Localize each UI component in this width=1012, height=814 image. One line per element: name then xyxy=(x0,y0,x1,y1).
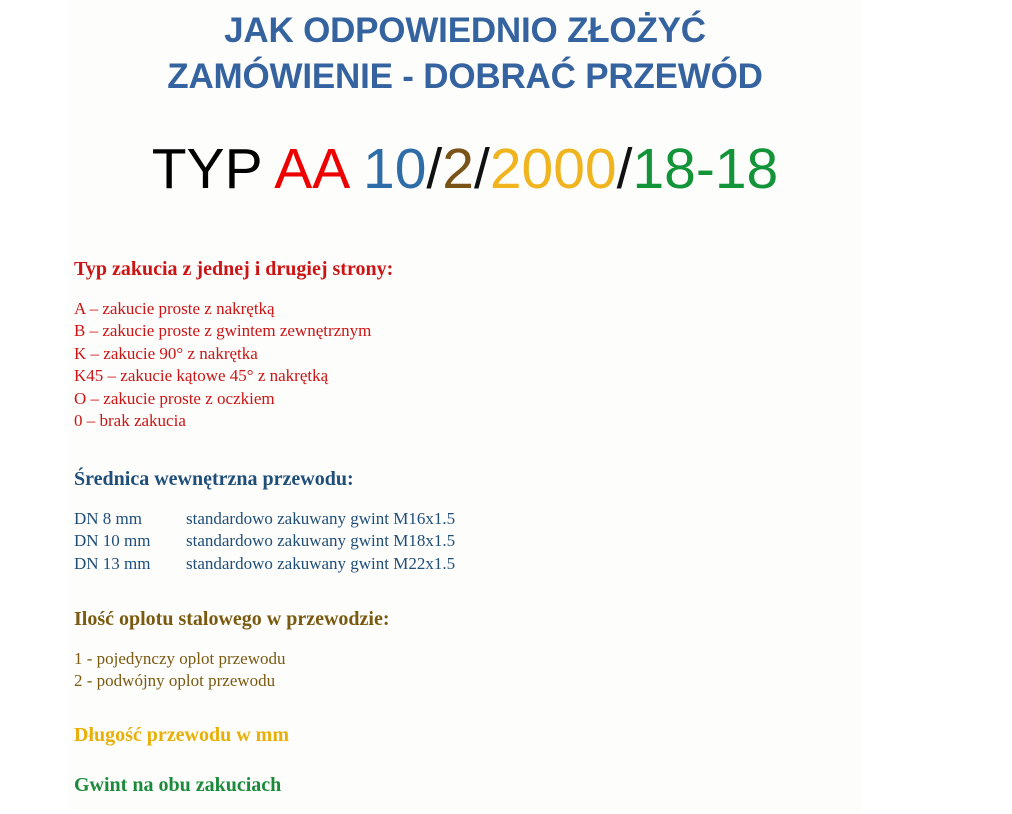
list-item: 0 – brak zakucia xyxy=(74,410,774,432)
code-segment-srednica: 10 xyxy=(363,137,426,201)
code-segment-space xyxy=(347,137,363,201)
section-heading-dlugosc: Długość przewodu w mm xyxy=(74,722,774,748)
section-list-typ-zakucia: A – zakucie proste z nakrętką B – zakuci… xyxy=(74,298,774,432)
section-list-srednica: DN 8 mmstandardowo zakuwany gwint M16x1.… xyxy=(74,508,774,575)
section-gwint-na-obu-zakuciach: Gwint na obu zakuciach xyxy=(74,772,774,814)
list-item: B – zakucie proste z gwintem zewnętrznym xyxy=(74,320,774,342)
list-item: K45 – zakucie kątowe 45° z nakrętką xyxy=(74,365,774,387)
list-item: 2 - podwójny oplot przewodu xyxy=(74,670,774,692)
slide-title-line-2: ZAMÓWIENIE - DOBRAĆ PRZEWÓD xyxy=(68,54,862,100)
code-segment-separator-1: / xyxy=(426,137,442,201)
slide-title: JAK ODPOWIEDNIO ZŁOŻYĆ ZAMÓWIENIE - DOBR… xyxy=(68,8,862,100)
list-item: A – zakucie proste z nakrętką xyxy=(74,298,774,320)
list-item: DN 8 mmstandardowo zakuwany gwint M16x1.… xyxy=(74,508,774,530)
section-typ-zakucia: Typ zakucia z jednej i drugiej strony: A… xyxy=(74,256,774,432)
section-srednica-wewnetrzna: Średnica wewnętrzna przewodu: DN 8 mmsta… xyxy=(74,466,774,575)
code-segment-separator-3: / xyxy=(617,137,633,201)
srednica-key: DN 13 mm xyxy=(74,553,186,575)
slide-content: JAK ODPOWIEDNIO ZŁOŻYĆ ZAMÓWIENIE - DOBR… xyxy=(0,0,1012,811)
srednica-key: DN 10 mm xyxy=(74,530,186,552)
srednica-value: standardowo zakuwany gwint M22x1.5 xyxy=(186,553,455,575)
srednica-value: standardowo zakuwany gwint M18x1.5 xyxy=(186,530,455,552)
slide-title-line-1: JAK ODPOWIEDNIO ZŁOŻYĆ xyxy=(68,8,862,54)
code-segment-gwint: 18-18 xyxy=(632,137,778,201)
code-segment-prefix: TYP xyxy=(152,137,275,201)
section-heading-srednica: Średnica wewnętrzna przewodu: xyxy=(74,466,774,492)
section-heading-oplot: Ilość oplotu stalowego w przewodzie: xyxy=(74,606,774,632)
section-heading-gwint: Gwint na obu zakuciach xyxy=(74,772,774,798)
srednica-value: standardowo zakuwany gwint M16x1.5 xyxy=(186,508,455,530)
code-segment-typ-zakucia: AA xyxy=(274,137,347,201)
section-heading-typ-zakucia: Typ zakucia z jednej i drugiej strony: xyxy=(74,256,774,282)
section-dlugosc-przewodu: Długość przewodu w mm xyxy=(74,722,774,764)
list-item: DN 13 mmstandardowo zakuwany gwint M22x1… xyxy=(74,553,774,575)
list-item: DN 10 mmstandardowo zakuwany gwint M18x1… xyxy=(74,530,774,552)
list-item: K – zakucie 90° z nakrętka xyxy=(74,343,774,365)
code-segment-dlugosc: 2000 xyxy=(490,137,617,201)
code-segment-separator-2: / xyxy=(474,137,490,201)
list-item: O – zakucie proste z oczkiem xyxy=(74,388,774,410)
section-list-oplot: 1 - pojedynczy oplot przewodu 2 - podwój… xyxy=(74,648,774,693)
list-item: 1 - pojedynczy oplot przewodu xyxy=(74,648,774,670)
srednica-key: DN 8 mm xyxy=(74,508,186,530)
section-ilosc-oplotu: Ilość oplotu stalowego w przewodzie: 1 -… xyxy=(74,606,774,693)
code-segment-ilosc-oplotu: 2 xyxy=(442,137,474,201)
product-code-line: TYP AA 10/2/2000/18-18 xyxy=(68,138,862,200)
